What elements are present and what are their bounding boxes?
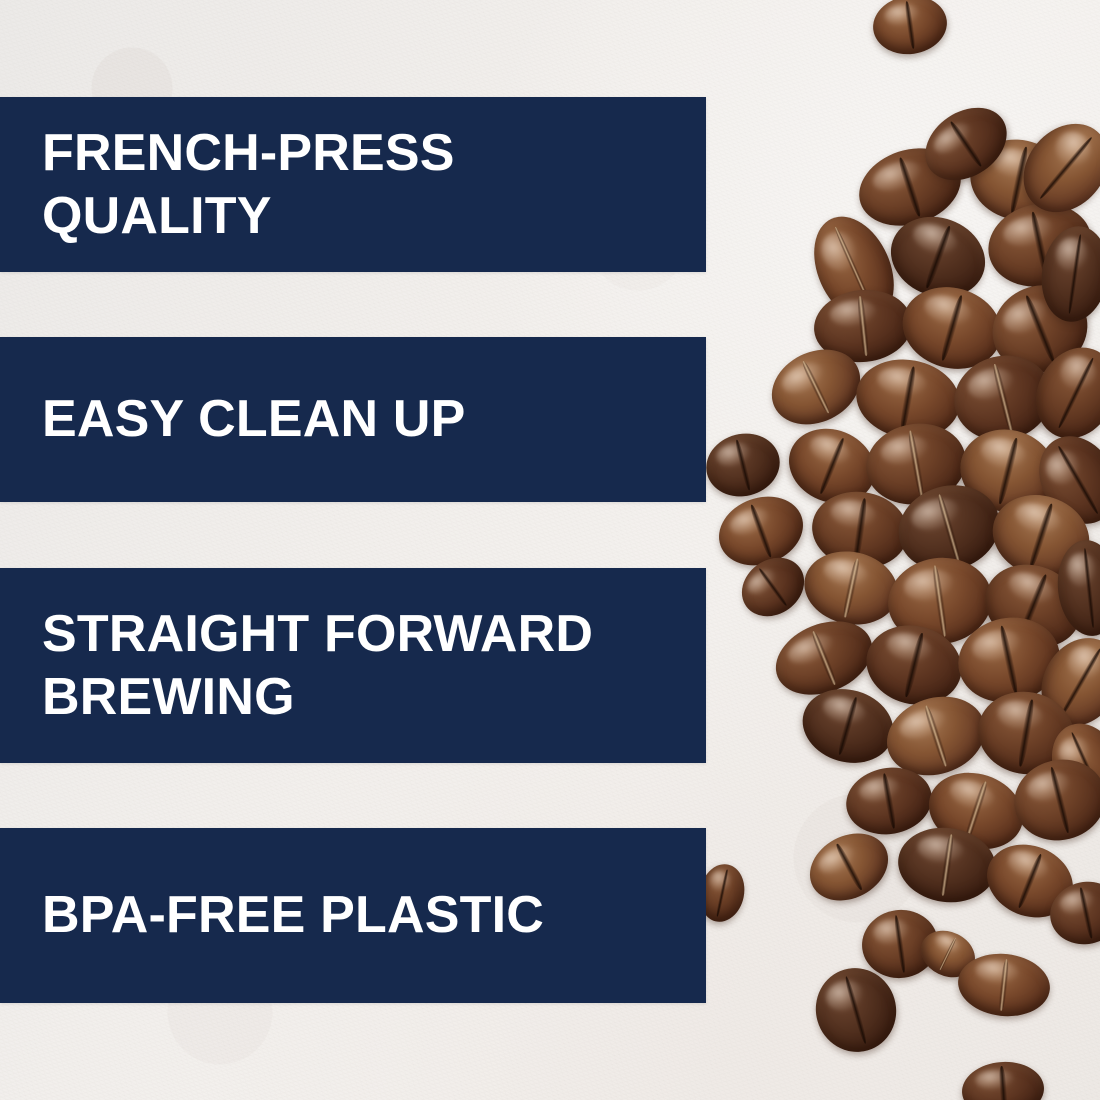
coffee-bean [960, 1059, 1046, 1100]
feature-banner-bpa-free-plastic: BPA-FREE PLASTIC [0, 828, 706, 1003]
feature-banner-label: STRAIGHT FORWARD BREWING [0, 603, 611, 728]
feature-banner-easy-clean-up: EASY CLEAN UP [0, 337, 706, 502]
feature-banner-label: BPA-FREE PLASTIC [0, 884, 562, 946]
feature-banner-french-press-quality: FRENCH-PRESS QUALITY [0, 97, 706, 272]
feature-banner-label: EASY CLEAN UP [0, 388, 484, 450]
feature-banner-straight-forward-brewing: STRAIGHT FORWARD BREWING [0, 568, 706, 763]
feature-banner-label: FRENCH-PRESS QUALITY [0, 122, 473, 247]
feature-banner-graphic: FRENCH-PRESS QUALITY EASY CLEAN UP STRAI… [0, 0, 1100, 1100]
coffee-bean [869, 0, 950, 59]
coffee-beans-photo [640, 0, 1100, 1100]
coffee-bean [700, 426, 787, 504]
